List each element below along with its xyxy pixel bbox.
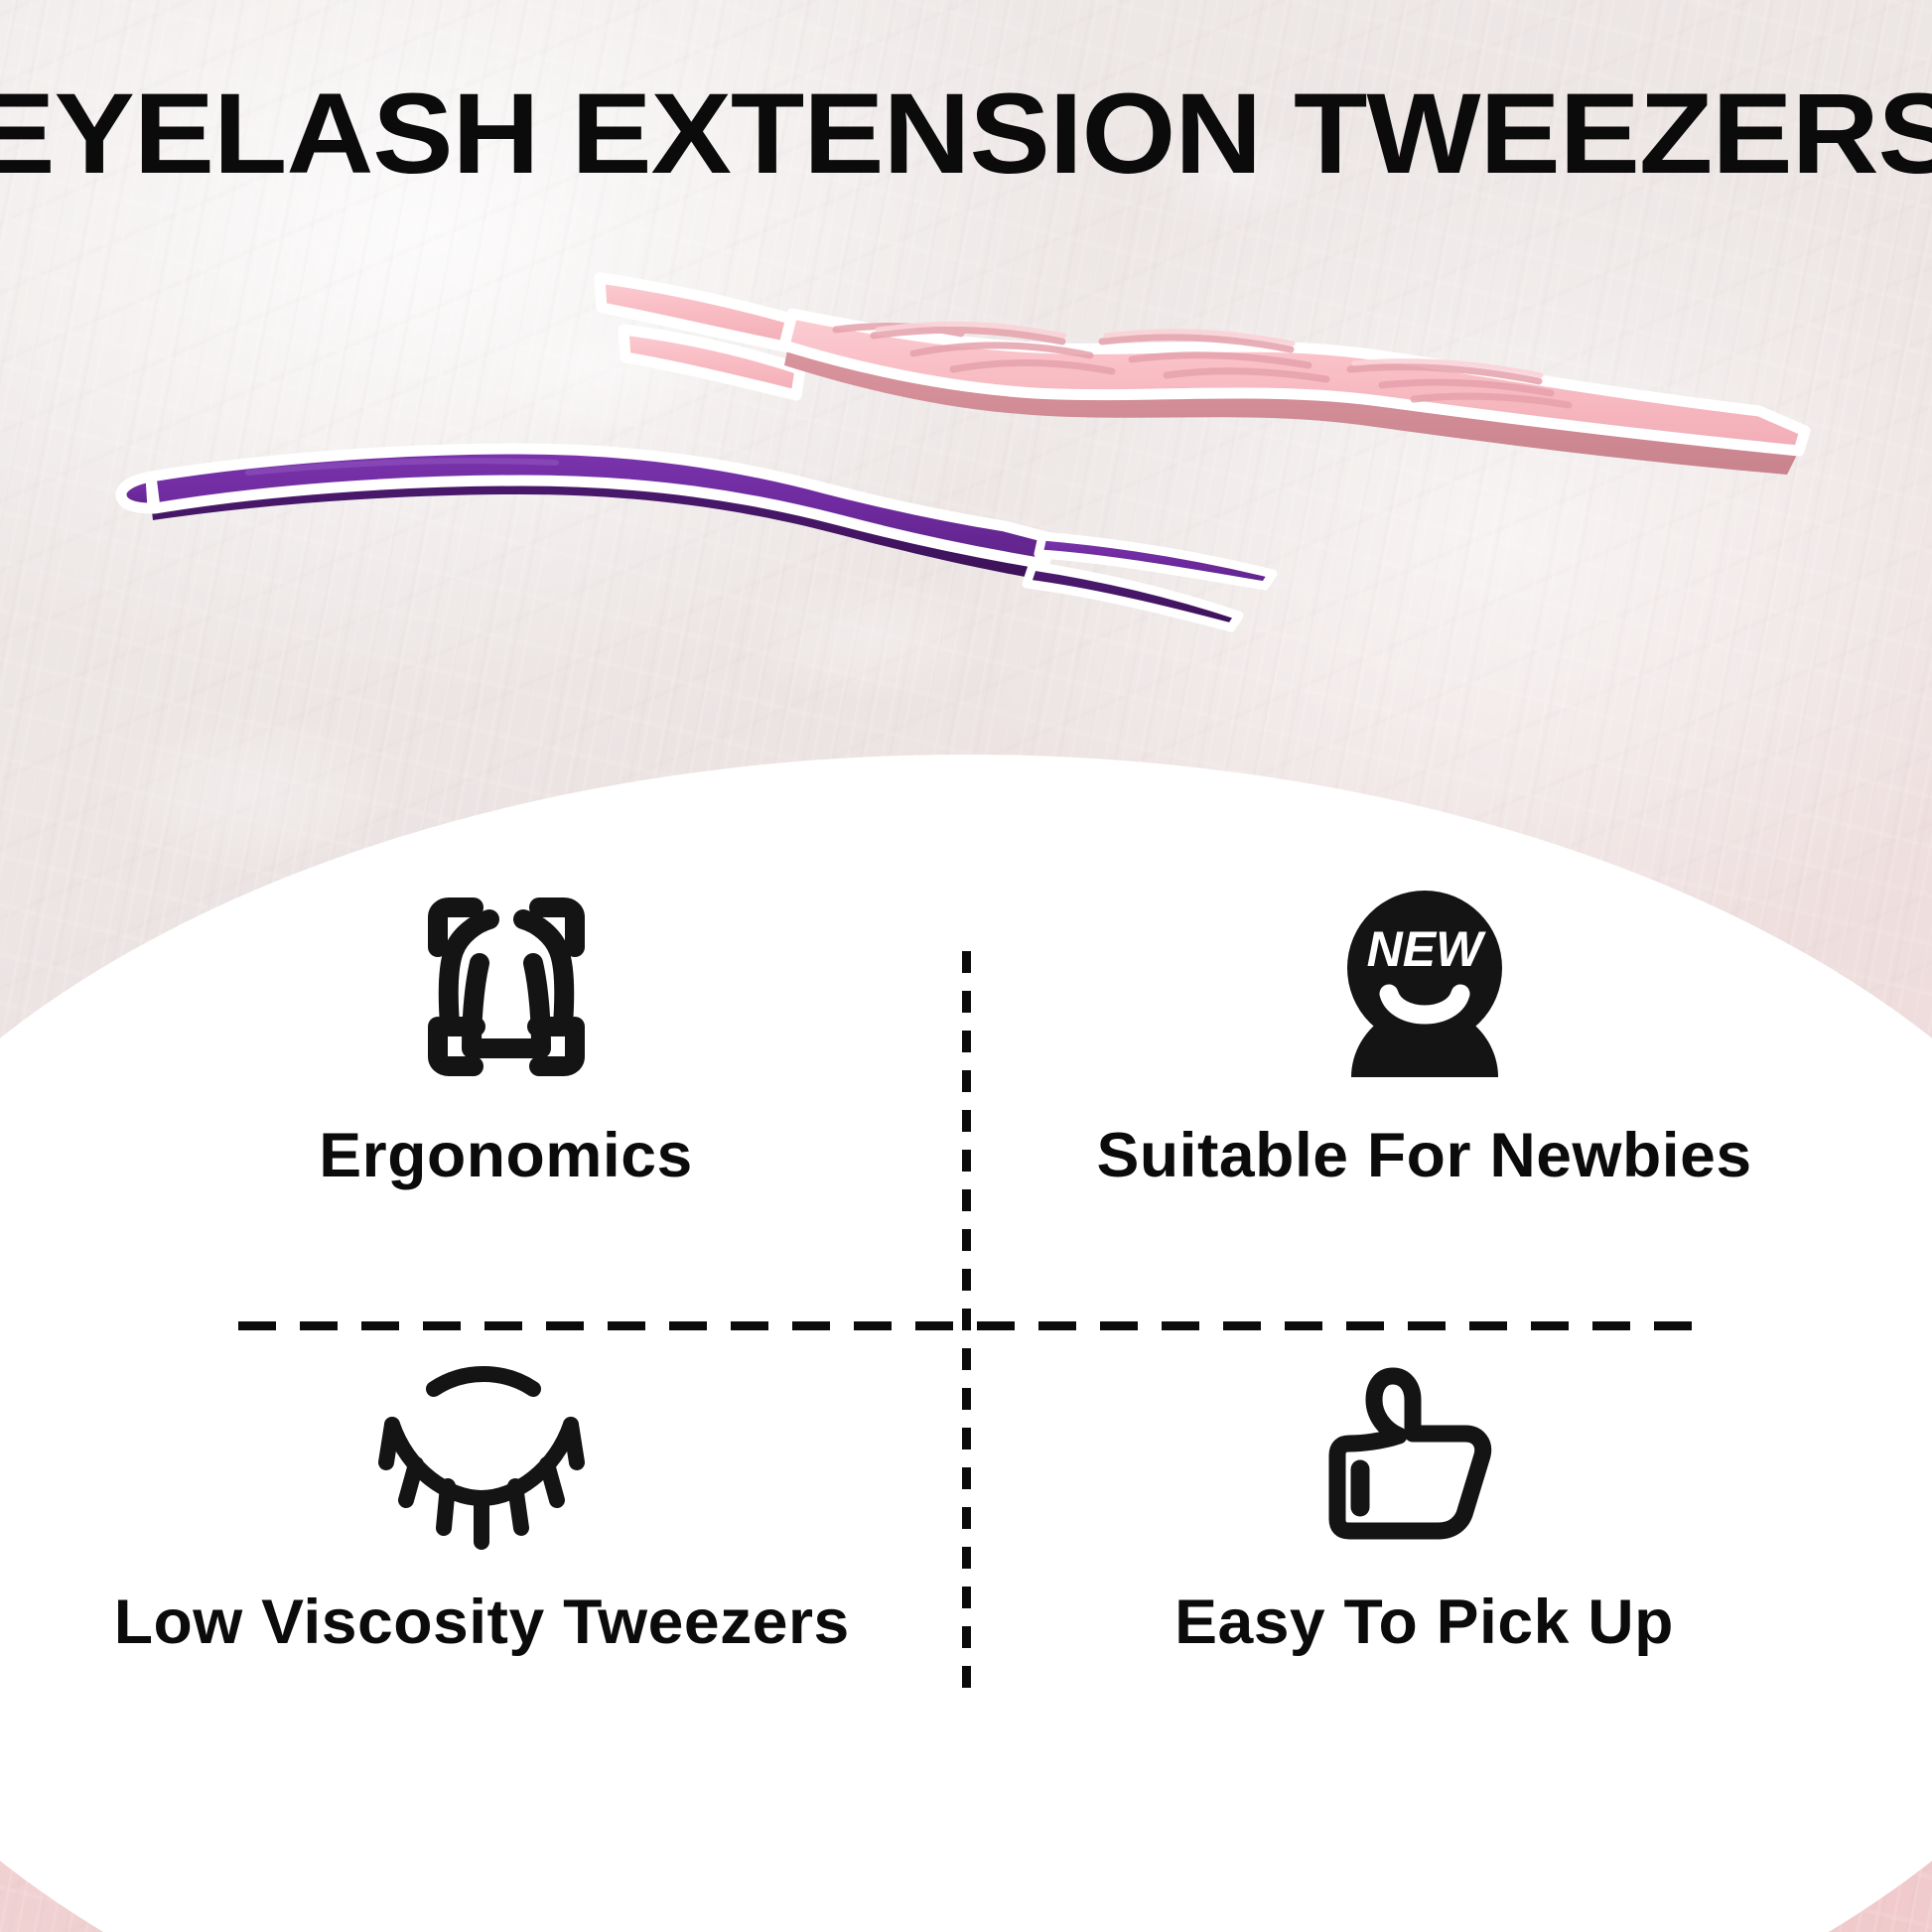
feature-label: Suitable For Newbies	[1097, 1120, 1752, 1191]
feature-grid: Ergonomics NEW Suitable For Newbies	[0, 874, 1932, 1767]
product-images	[0, 238, 1932, 695]
feature-suitable-for-newbies: NEW Suitable For Newbies	[998, 874, 1852, 1191]
feature-label: Low Viscosity Tweezers	[114, 1587, 850, 1658]
feature-low-viscosity: Low Viscosity Tweezers	[55, 1340, 908, 1658]
thumbs-up-icon	[1327, 1340, 1522, 1569]
feature-ergonomics: Ergonomics	[79, 874, 933, 1191]
feature-label: Ergonomics	[320, 1120, 693, 1191]
page-title: EYELASH EXTENSION TWEEZERS	[0, 77, 1932, 192]
new-badge-text: NEW	[1367, 921, 1486, 977]
closed-eye-lashes-icon	[364, 1340, 599, 1569]
new-badge-person-icon: NEW	[1319, 874, 1530, 1102]
purple-curved-tweezer	[121, 449, 1273, 627]
pink-feather-tweezer	[600, 278, 1805, 475]
infographic-page: EYELASH EXTENSION TWEEZERS	[0, 0, 1932, 1932]
feature-label: Easy To Pick Up	[1175, 1587, 1675, 1658]
ergonomic-tweezer-scan-icon	[398, 874, 615, 1102]
feature-easy-to-pick-up: Easy To Pick Up	[998, 1340, 1852, 1658]
